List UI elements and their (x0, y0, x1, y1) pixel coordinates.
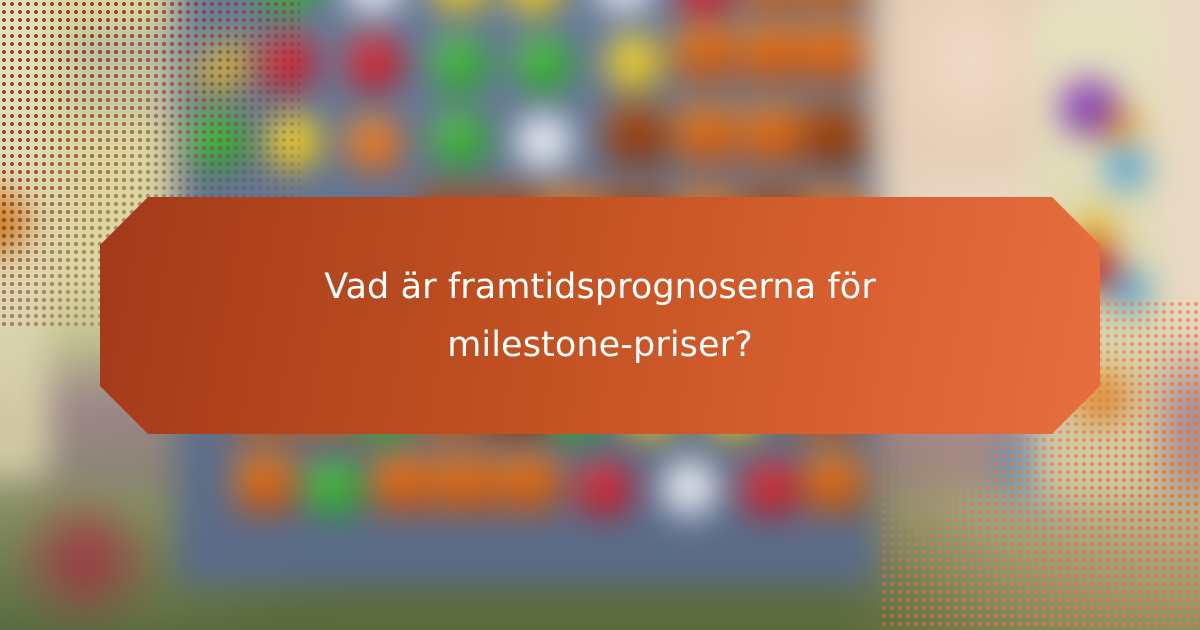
background-ui-dot (180, 30, 230, 72)
question-text: Vad är framtidsprognoserna för milestone… (290, 258, 910, 374)
background-red-smudge (0, 500, 170, 620)
background-ui-bar (70, 88, 190, 106)
share-card: Vad är framtidsprognoserna för milestone… (0, 0, 1200, 630)
question-banner: Vad är framtidsprognoserna för milestone… (100, 197, 1100, 434)
game-panel-left (0, 0, 50, 480)
